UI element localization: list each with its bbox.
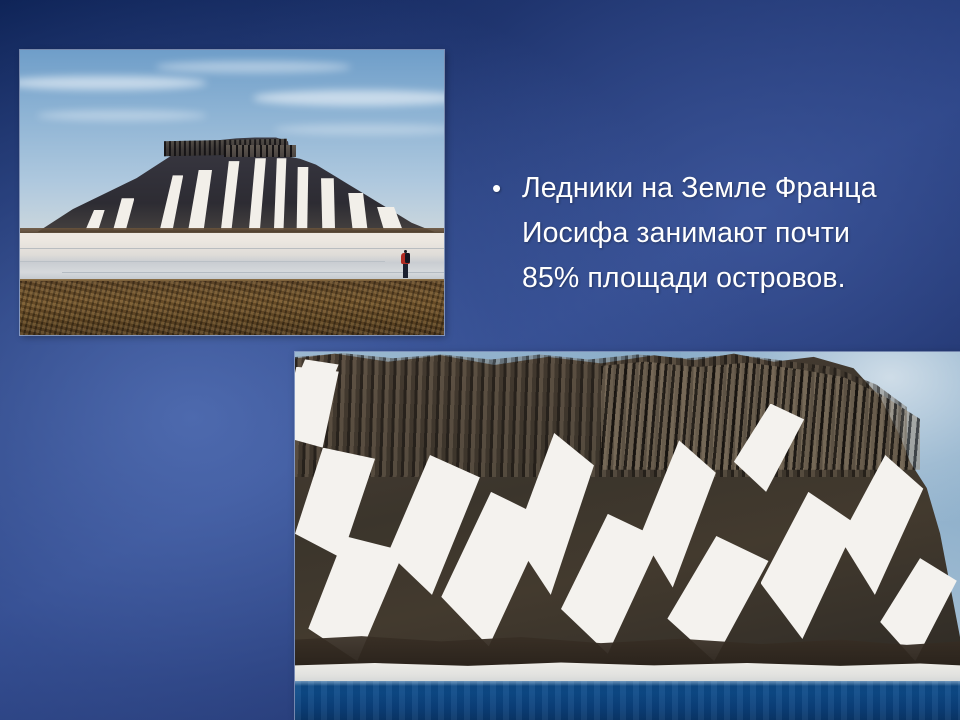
person-legs: [403, 264, 408, 278]
bullet-point-icon: •: [492, 166, 522, 211]
photo2-sea: [295, 681, 960, 720]
photo1-gravel-foreground: [20, 281, 444, 335]
slide-canvas: • Ледники на Земле Франца Иосифа занимаю…: [0, 0, 960, 720]
photo1-person-red-jacket: [400, 250, 411, 279]
photo1-frozen-plain: [20, 230, 444, 284]
basalt-cliff-photo[interactable]: [295, 352, 960, 720]
bullet-list-item: • Ледники на Земле Франца Иосифа занимаю…: [492, 166, 922, 301]
photo1-cloud: [156, 61, 351, 72]
bullet-item-label: Ледники на Земле Франца Иосифа занимают …: [522, 166, 882, 301]
table-mountain-photo[interactable]: [20, 50, 444, 335]
photo1-cloud: [253, 90, 444, 106]
photo1-ice-crack: [62, 272, 444, 273]
photo1-caprock-band: [224, 145, 296, 158]
bullet-text-block: • Ледники на Земле Франца Иосифа занимаю…: [492, 166, 922, 301]
photo1-ice-crack: [20, 261, 385, 262]
person-backpack: [405, 253, 410, 263]
photo1-shore-band: [20, 228, 444, 233]
photo1-cloud: [20, 76, 207, 90]
photo2-sea-glint: [295, 681, 960, 685]
photo1-ice-crack: [20, 248, 444, 249]
